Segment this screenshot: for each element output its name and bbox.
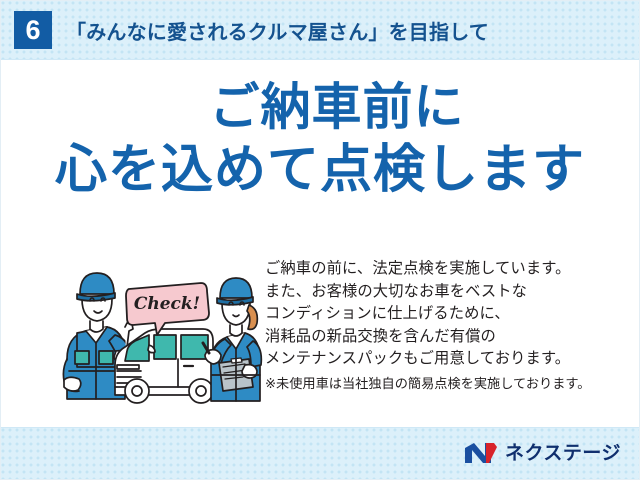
header: 6 「みんなに愛されるクルマ屋さん」を目指して <box>1 1 489 59</box>
headline-line-2: 心を込めて点検します <box>1 141 639 199</box>
header-title: 「みんなに愛されるクルマ屋さん」を目指して <box>66 16 489 45</box>
body-line: 消耗品の新品交換を含んだ有償の <box>265 326 631 349</box>
body-note: ※未使用車は当社独自の簡易点検を実施しております。 <box>265 374 631 394</box>
body-line: また、お客様の大切なお車をベストな <box>265 281 631 304</box>
speech-bubble-label: Check! <box>134 294 200 314</box>
white-van <box>115 329 213 403</box>
body-line: コンディションに仕上げるために、 <box>265 303 631 326</box>
illustration-mechanics-van: Check! <box>53 267 265 409</box>
nextage-n-mark <box>464 441 498 465</box>
advertisement-page: 6 「みんなに愛されるクルマ屋さん」を目指して ご納車前に 心を込めて点検します <box>0 0 640 480</box>
brand-logo: ネクステージ <box>464 439 621 467</box>
body-line: ご納車の前に、法定点検を実施しています。 <box>265 258 631 281</box>
page-headline: ご納車前に 心を込めて点検します <box>1 79 639 199</box>
brand-name: ネクステージ <box>505 444 621 463</box>
headline-line-1: ご納車前に <box>1 79 639 135</box>
step-number-badge: 6 <box>14 11 52 49</box>
body-line: メンテナンスパックもご用意しております。 <box>265 348 631 371</box>
body-copy: ご納車の前に、法定点検を実施しています。 また、お客様の大切なお車をベストな コ… <box>265 258 631 394</box>
